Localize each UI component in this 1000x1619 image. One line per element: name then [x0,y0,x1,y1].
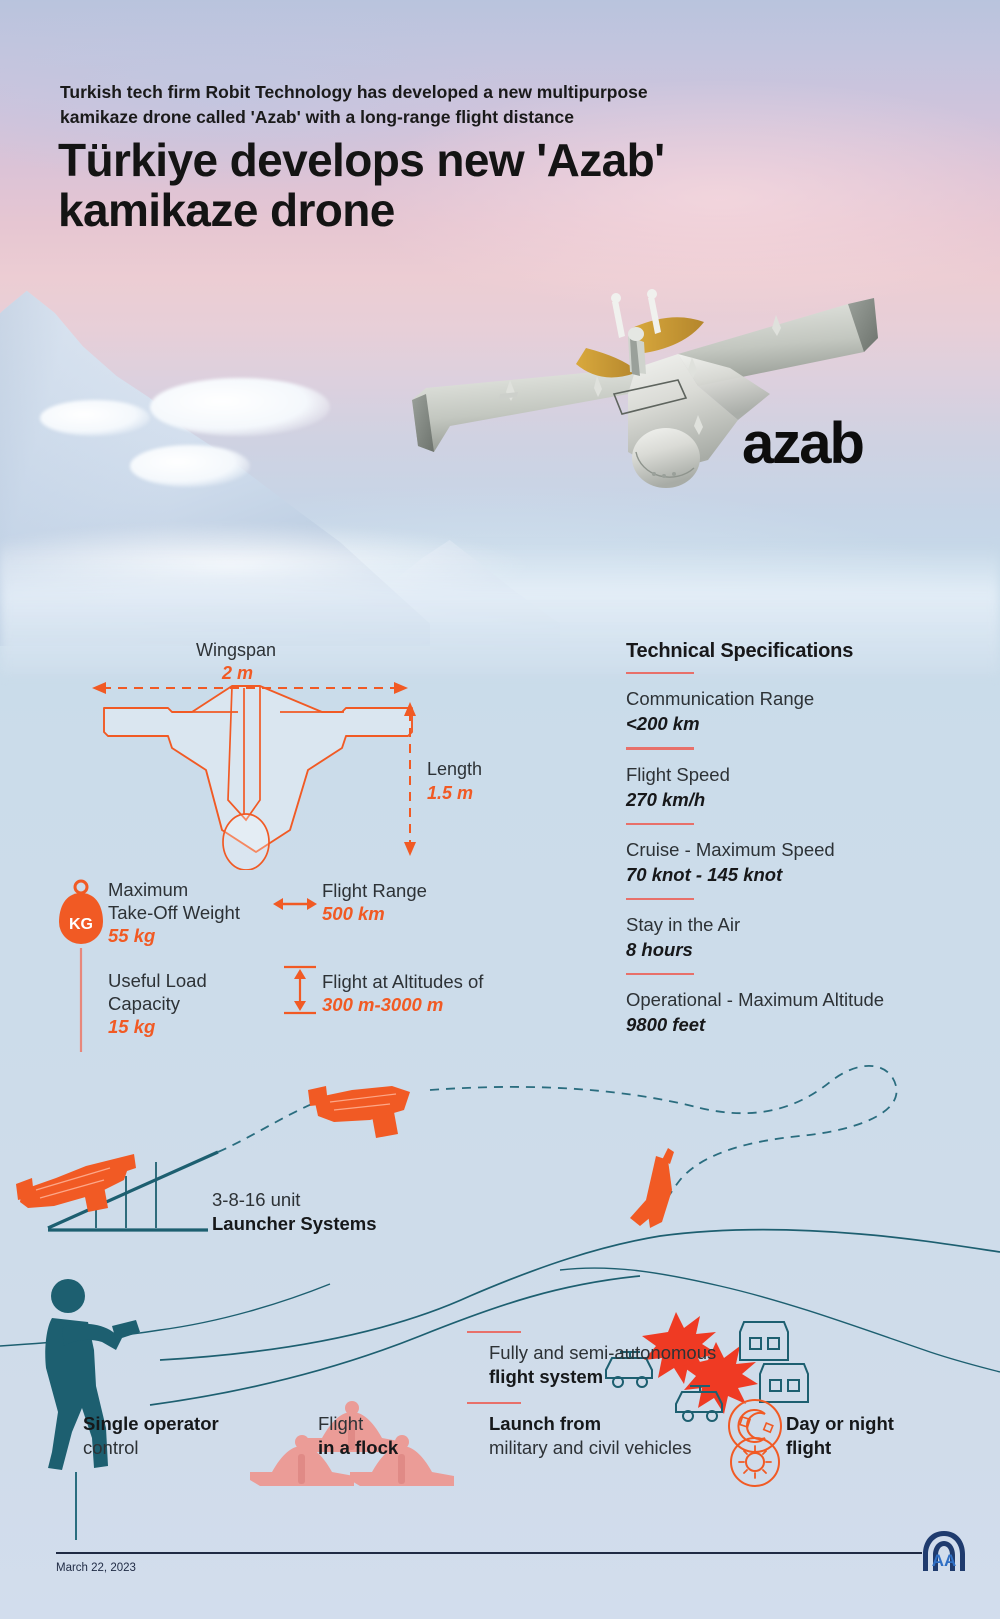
left-cloud [40,400,150,436]
autonomous-line-2: flight system [489,1365,716,1390]
anadolu-agency-logo: AA [920,1528,968,1574]
length-label: Length [427,759,482,780]
label-autonomous-flight-system: Fully and semi-autonomous flight system [489,1341,716,1390]
tech-key-0: Communication Range [626,687,966,711]
spec-flight-range: Flight Range 500 km [322,879,532,926]
operator-line-2: control [83,1436,219,1461]
tech-value-0: <200 km [626,711,966,738]
range-value: 500 km [322,902,532,926]
tech-divider-2 [626,823,694,825]
launcher-line-1: 3-8-16 unit [212,1188,377,1212]
altitude-range-arrow-icon [280,964,320,1016]
mid-cloud [130,445,250,487]
operator-line-1: Single operator [83,1412,219,1436]
headline-line-1: Türkiye develops new 'Azab' [58,136,878,186]
kicker-line-2: kamikaze drone called 'Azab' with a long… [60,105,780,130]
tech-spec-communication-range: Communication Range <200 km [626,687,966,738]
label-launcher-systems: 3-8-16 unit Launcher Systems [212,1188,377,1237]
tech-divider-3 [626,898,694,900]
tech-divider-0 [626,672,694,674]
wingspan-value: 2 m [222,663,253,684]
svg-text:KG: KG [69,916,93,933]
footer-divider [56,1552,922,1554]
summit-cloud [150,378,330,436]
launch-divider [467,1402,521,1404]
launcher-line-2: Launcher Systems [212,1212,377,1237]
length-dimension-arrow [400,700,420,858]
tech-key-4: Operational - Maximum Altitude [626,988,966,1012]
launch-line-2: military and civil vehicles [489,1436,692,1461]
autonomous-divider [467,1331,521,1333]
tech-key-3: Stay in the Air [626,913,966,937]
tech-divider-4 [626,973,694,975]
tech-spec-operational-max-altitude: Operational - Maximum Altitude 9800 feet [626,988,966,1039]
kicker-line-1: Turkish tech firm Robit Technology has d… [60,80,780,105]
mtow-value: 55 kg [108,924,323,949]
infographic-poster: Turkish tech firm Robit Technology has d… [0,0,1000,1619]
headline-line-2: kamikaze drone [58,186,878,236]
technical-specifications-panel: Technical Specifications Communication R… [626,640,966,1039]
label-day-or-night-flight: Day or night flight [786,1412,894,1461]
tech-value-1: 270 km/h [626,787,966,814]
length-value: 1.5 m [427,783,473,804]
tech-value-4: 9800 feet [626,1012,966,1039]
operational-scenario-diagram [0,1060,1000,1540]
tech-value-3: 8 hours [626,937,966,964]
ulc-value: 15 kg [108,1015,323,1040]
daynight-line-2: flight [786,1436,894,1461]
altitude-label: Flight at Altitudes of [322,970,552,993]
launch-line-1: Launch from [489,1412,692,1436]
tech-spec-flight-speed: Flight Speed 270 km/h [626,763,966,814]
tech-key-1: Flight Speed [626,763,966,787]
flock-line-1: Flight [318,1412,398,1436]
daynight-line-1: Day or night [786,1412,894,1436]
altitude-value: 300 m-3000 m [322,993,552,1017]
kicker-text: Turkish tech firm Robit Technology has d… [60,80,780,130]
autonomous-line-1: Fully and semi-autonomous [489,1341,716,1365]
label-launch-from-vehicles: Launch from military and civil vehicles [489,1412,692,1461]
building-icon-1 [740,1322,788,1360]
tech-divider-1 [626,747,694,749]
flock-line-2: in a flock [318,1436,398,1461]
drone-on-launcher-icon [16,1154,136,1212]
label-single-operator: Single operator control [83,1412,219,1461]
azab-wordmark: azab [742,415,863,473]
wingspan-label: Wingspan [196,640,276,661]
tech-spec-cruise-max-speed: Cruise - Maximum Speed 70 knot - 145 kno… [626,838,966,889]
label-flight-in-flock: Flight in a flock [318,1412,398,1461]
aa-logo-text: AA [932,1551,957,1570]
publication-date: March 22, 2023 [56,1562,136,1574]
drone-diving-icon [630,1148,674,1228]
range-label: Flight Range [322,879,532,902]
tech-specs-title: Technical Specifications [626,640,966,663]
weight-kg-icon: KG [57,878,105,1053]
day-night-icon [727,1396,783,1488]
tech-spec-stay-in-air: Stay in the Air 8 hours [626,913,966,964]
page-title: Türkiye develops new 'Azab' kamikaze dro… [58,136,878,235]
tech-value-2: 70 knot - 145 knot [626,862,966,889]
horizontal-range-arrow-icon [272,893,318,915]
tech-key-2: Cruise - Maximum Speed [626,838,966,862]
spec-flight-altitude: Flight at Altitudes of 300 m-3000 m [322,970,552,1017]
